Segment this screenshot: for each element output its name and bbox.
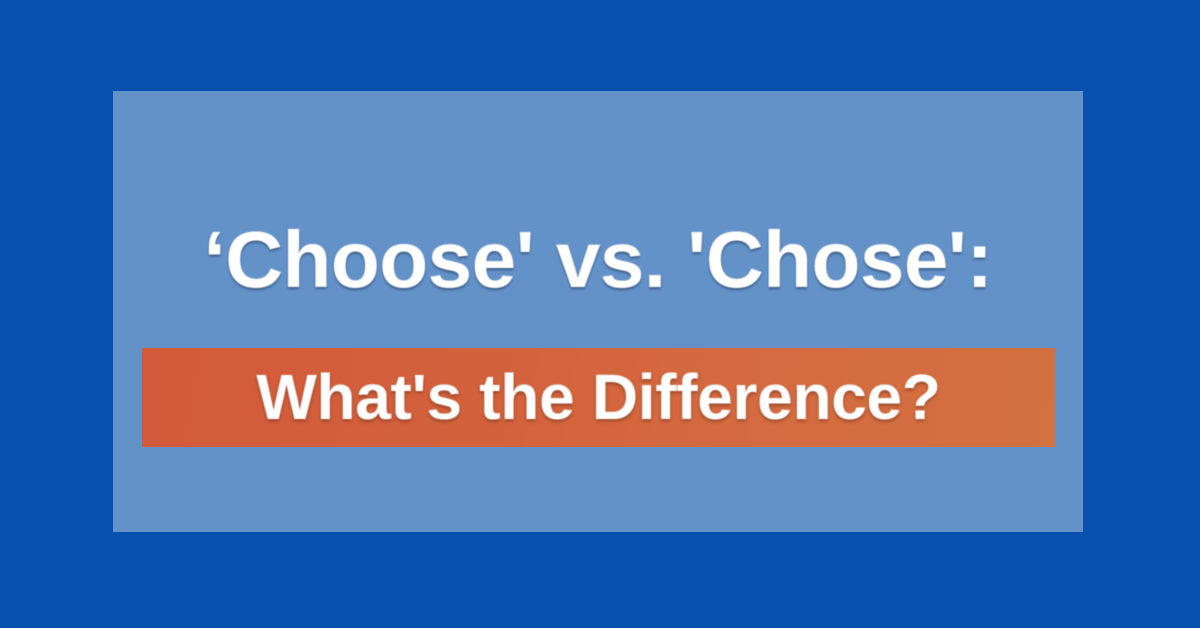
poster-title: ‘Choose' vs. 'Chose': [113, 212, 1083, 308]
poster-subtitle: What's the Difference? [142, 348, 1055, 447]
content-panel [113, 91, 1083, 532]
poster-canvas: ‘Choose' vs. 'Chose': What's the Differe… [0, 0, 1200, 628]
